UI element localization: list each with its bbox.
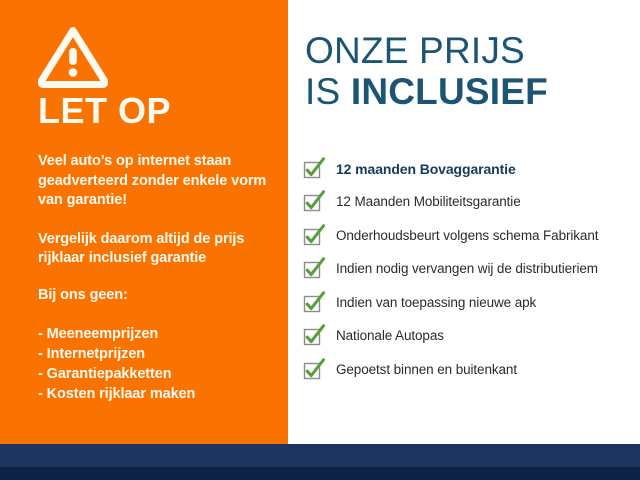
inclusive-panel: ONZE PRIJS IS INCLUSIEF 12 maanden Bovag… [288, 0, 640, 444]
list-item: - Kosten rijklaar maken [38, 384, 276, 404]
checked-checkbox-icon [303, 157, 327, 181]
promo-banner: LET OP Veel auto’s op internet staan gea… [0, 0, 640, 480]
list-item: Onderhoudsbeurt volgens schema Fabrikant [303, 219, 638, 253]
list-item: 12 maanden Bovaggarantie [303, 152, 638, 186]
list-item-label: Onderhoudsbeurt volgens schema Fabrikant [336, 228, 598, 244]
list-item-label: Indien van toepassing nieuwe apk [336, 295, 536, 311]
list-item: Nationale Autopas [303, 320, 638, 354]
list-item-label: 12 Maanden Mobiliteitsgarantie [336, 194, 521, 210]
checked-checkbox-icon [303, 358, 327, 382]
list-item-label: 12 maanden Bovaggarantie [336, 161, 516, 177]
warning-triangle-icon [38, 26, 108, 88]
warning-paragraph-1: Veel auto’s op internet staan geadvertee… [38, 152, 276, 211]
inclusions-checklist: 12 maanden Bovaggarantie 12 Maanden Mobi… [303, 152, 638, 387]
exclusion-list: - Meeneemprijzen - Internetprijzen - Gar… [38, 324, 276, 404]
headline-line-2: IS INCLUSIEF [305, 71, 548, 112]
checked-checkbox-icon [303, 257, 327, 281]
checked-checkbox-icon [303, 324, 327, 348]
warning-paragraph-3: Bij ons geen: [38, 286, 276, 306]
list-item: 12 Maanden Mobiliteitsgarantie [303, 186, 638, 220]
headline-line-1: ONZE PRIJS [305, 30, 548, 71]
list-item: - Garantiepakketten [38, 364, 276, 384]
list-item: Indien van toepassing nieuwe apk [303, 286, 638, 320]
list-item: - Meeneemprijzen [38, 324, 276, 344]
footer-bar [0, 444, 640, 467]
list-item: Indien nodig vervangen wij de distributi… [303, 253, 638, 287]
list-item-label: Indien nodig vervangen wij de distributi… [336, 261, 598, 277]
checked-checkbox-icon [303, 190, 327, 214]
headline: ONZE PRIJS IS INCLUSIEF [305, 30, 548, 112]
checked-checkbox-icon [303, 224, 327, 248]
list-item-label: Gepoetst binnen en buitenkant [336, 362, 517, 378]
footer-bar-bottom [0, 467, 640, 480]
checked-checkbox-icon [303, 291, 327, 315]
page-title: LET OP [38, 93, 171, 129]
warning-panel: LET OP Veel auto’s op internet staan gea… [0, 0, 288, 444]
warning-body: Veel auto’s op internet staan geadvertee… [38, 152, 276, 404]
list-item: - Internetprijzen [38, 344, 276, 364]
warning-paragraph-2: Vergelijk daarom altijd de prijs rijklaa… [38, 230, 276, 269]
headline-line-2-emphasis: INCLUSIEF [351, 71, 548, 112]
headline-line-2-prefix: IS [305, 71, 351, 112]
list-item: Gepoetst binnen en buitenkant [303, 353, 638, 387]
list-item-label: Nationale Autopas [336, 328, 444, 344]
